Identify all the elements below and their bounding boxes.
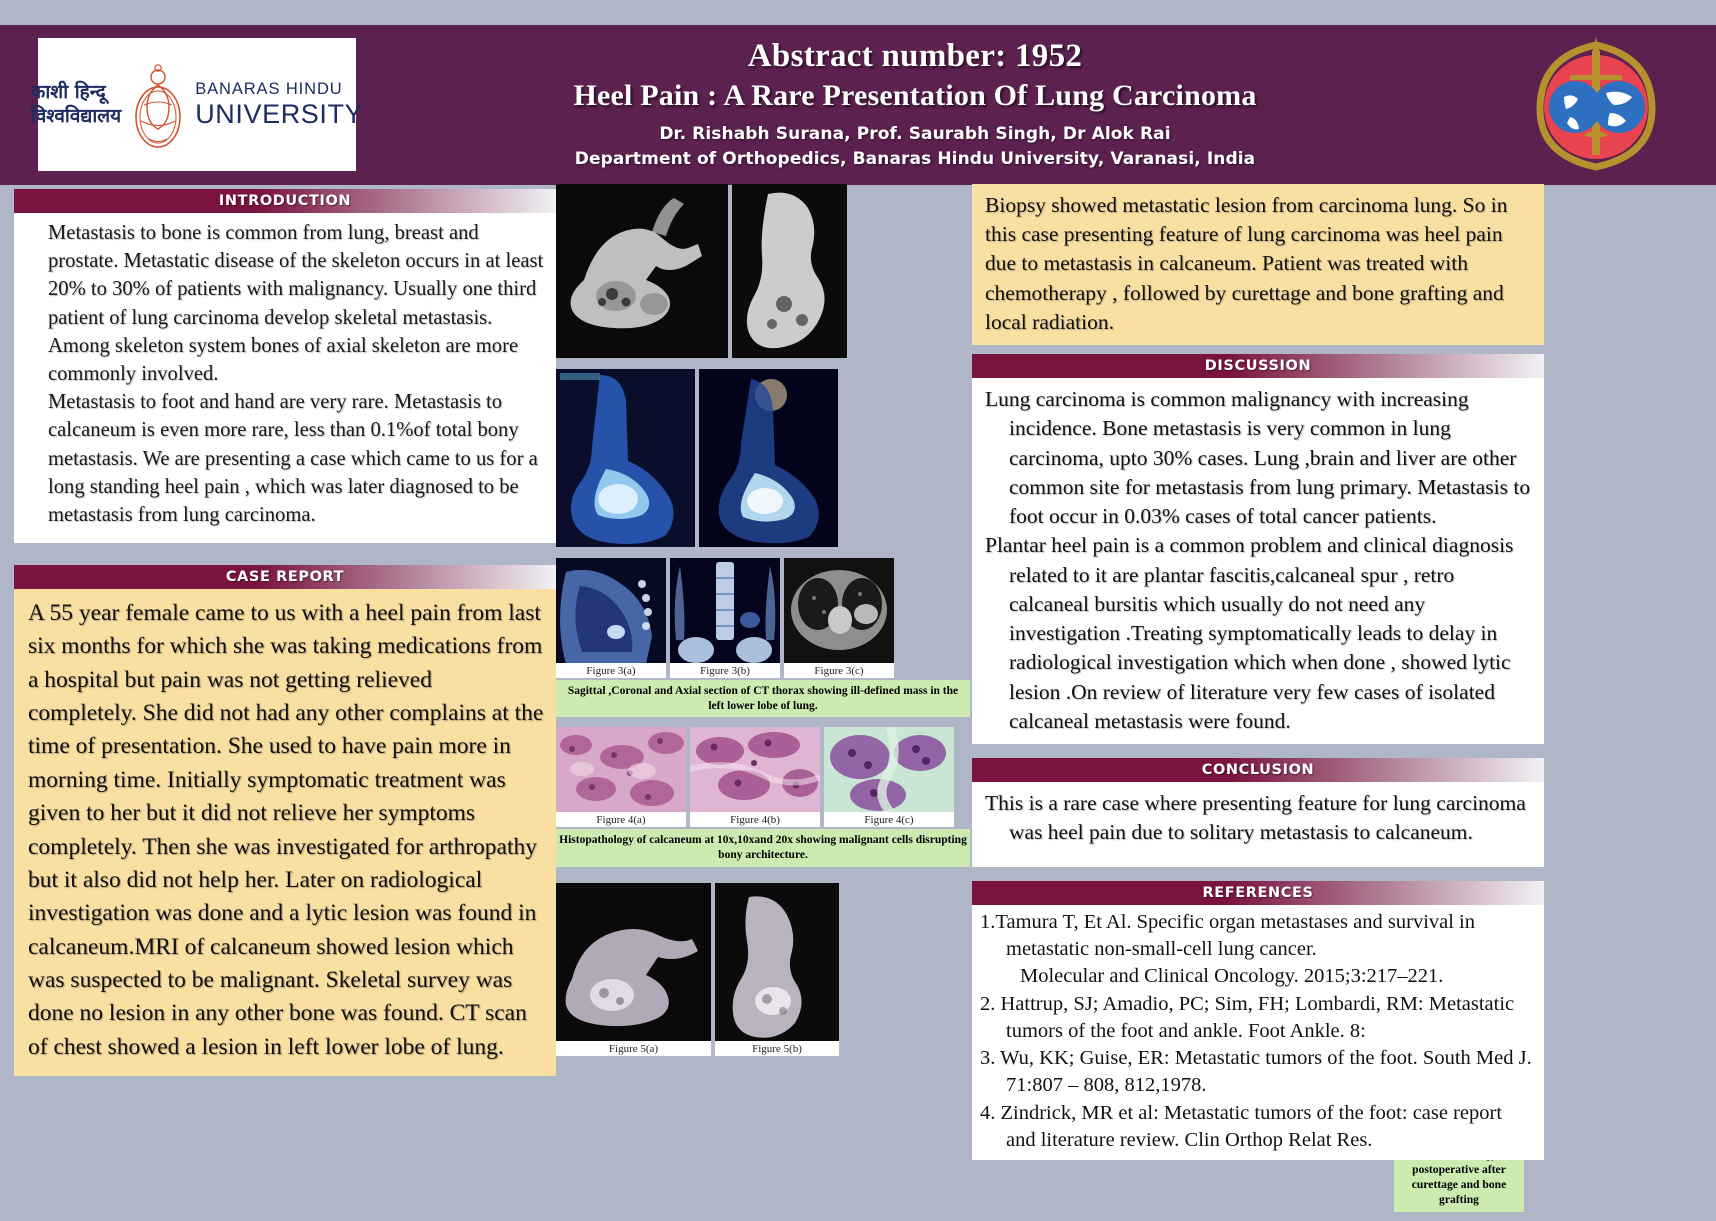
- right-column: Biopsy showed metastatic lesion from car…: [972, 184, 1544, 1160]
- ct-coronal-image: [670, 558, 780, 663]
- biopsy-body: Biopsy showed metastatic lesion from car…: [972, 184, 1544, 345]
- reference-number-3: 3.: [980, 1047, 995, 1069]
- discussion-banner: DISCUSSION: [972, 354, 1544, 378]
- reference-text-4: Zindrick, MR et al: Metastatic tumors of…: [1001, 1102, 1503, 1151]
- histo-figure-label-c: Figure 4(c): [824, 812, 954, 827]
- poster-title: Heel Pain : A Rare Presentation Of Lung …: [573, 79, 1256, 113]
- xray-lateral-image: [556, 184, 728, 358]
- case-report-body: A 55 year female came to us with a heel …: [14, 589, 556, 1076]
- bhu-saraswati-emblem-icon: [127, 59, 189, 151]
- histo-cell-b: Figure 4(b): [690, 727, 820, 827]
- reference-text-3: Wu, KK; Guise, ER: Metastatic tumors of …: [1000, 1047, 1532, 1096]
- introduction-paragraph-1: Metastasis to bone is common from lung, …: [26, 219, 546, 388]
- mri-figure-row: [556, 369, 970, 547]
- postop-harris-image: [715, 883, 839, 1041]
- introduction-banner: INTRODUCTION: [14, 189, 556, 213]
- ct-coronal-cell: Figure 3(b): [670, 558, 780, 678]
- references-panel: 1.Tamura T, Et Al. Specific organ metast…: [972, 905, 1544, 1160]
- abstract-number: Abstract number: 1952: [748, 38, 1082, 75]
- biopsy-panel: Biopsy showed metastatic lesion from car…: [972, 184, 1544, 345]
- conference-poster: काशी हिन्दू विश्वविद्यालय BANARAS HINDU …: [0, 0, 1716, 1221]
- sicot-emblem-icon: [1522, 31, 1670, 179]
- conclusion-banner: CONCLUSION: [972, 758, 1544, 782]
- discussion-paragraph-2: Plantar heel pain is a common problem an…: [985, 531, 1533, 736]
- histo-figure-label-b: Figure 4(b): [690, 812, 820, 827]
- postop-row: Figure 5(a) Figure 5(b): [556, 883, 970, 1056]
- bhu-logo-line1: BANARAS HINDU: [195, 80, 363, 100]
- references-list: 1.Tamura T, Et Al. Specific organ metast…: [972, 905, 1544, 1160]
- mri-t2-sagittal-image: [699, 369, 838, 547]
- ct-sagittal-image: [556, 558, 666, 663]
- reference-item-1: 1.Tamura T, Et Al. Specific organ metast…: [980, 909, 1534, 964]
- bhu-logo-hindi: काशी हिन्दू विश्वविद्यालय: [31, 81, 121, 129]
- postop-cell-a: Figure 5(a): [556, 883, 711, 1056]
- ct-figure-label-b: Figure 3(b): [670, 663, 780, 678]
- reference-text-1: Tamura T, Et Al. Specific organ metastas…: [995, 911, 1475, 960]
- postop-lateral-image: [556, 883, 711, 1041]
- ct-thorax-caption: Sagittal ,Coronal and Axial section of C…: [556, 680, 970, 717]
- left-column: INTRODUCTION Metastasis to bone is commo…: [14, 189, 556, 1076]
- discussion-paragraph-1: Lung carcinoma is common malignancy with…: [985, 385, 1533, 531]
- introduction-paragraph-2: Metastasis to foot and hand are very rar…: [26, 388, 546, 529]
- mri-t1-sagittal-image: [556, 369, 695, 547]
- reference-text-2: Hattrup, SJ; Amadio, PC; Sim, FH; Lombar…: [1001, 993, 1515, 1042]
- histo-cell-a: Figure 4(a): [556, 727, 686, 827]
- reference-item-4: 4. Zindrick, MR et al: Metastatic tumors…: [980, 1100, 1534, 1155]
- department-affiliation: Department of Orthopedics, Banaras Hindu…: [575, 147, 1256, 173]
- ct-thorax-row: Figure 3(a): [556, 558, 970, 678]
- conclusion-text: This is a rare case where presenting fea…: [985, 789, 1533, 847]
- reference-item-3: 3. Wu, KK; Guise, ER: Metastatic tumors …: [980, 1045, 1534, 1100]
- bhu-logo: काशी हिन्दू विश्वविद्यालय BANARAS HINDU …: [38, 38, 356, 171]
- conclusion-body: This is a rare case where presenting fea…: [972, 782, 1544, 867]
- discussion-body: Lung carcinoma is common malignancy with…: [972, 378, 1544, 744]
- bhu-logo-line2: UNIVERSITY: [195, 100, 363, 128]
- reference-number-4: 4.: [980, 1102, 995, 1124]
- reference-subline-1: Molecular and Clinical Oncology. 2015;3:…: [980, 963, 1534, 990]
- histo-cell-c: Figure 4(c): [824, 727, 954, 827]
- header-title-block: Abstract number: 1952 Heel Pain : A Rare…: [380, 25, 1450, 185]
- histo-image-b: [690, 727, 820, 812]
- ct-axial-image: [784, 558, 894, 663]
- postop-cell-b: Figure 5(b): [715, 883, 839, 1056]
- bhu-hindi-line1: काशी हिन्दू: [31, 81, 121, 105]
- poster-header: काशी हिन्दू विश्वविद्यालय BANARAS HINDU …: [0, 25, 1716, 185]
- case-report-panel: A 55 year female came to us with a heel …: [14, 589, 556, 1076]
- reference-item-2: 2. Hattrup, SJ; Amadio, PC; Sim, FH; Lom…: [980, 991, 1534, 1046]
- histo-figure-label-a: Figure 4(a): [556, 812, 686, 827]
- reference-number-2: 2.: [980, 993, 995, 1015]
- histo-image-c: [824, 727, 954, 812]
- author-list: Dr. Rishabh Surana, Prof. Saurabh Singh,…: [659, 122, 1170, 148]
- ct-figure-label-a: Figure 3(a): [556, 663, 666, 678]
- bhu-logo-text: BANARAS HINDU UNIVERSITY: [195, 80, 363, 128]
- ct-axial-cell: Figure 3(c): [784, 558, 894, 678]
- introduction-body: Metastasis to bone is common from lung, …: [14, 213, 556, 543]
- bhu-hindi-line2: विश्वविद्यालय: [31, 105, 121, 129]
- postop-figure-label-b: Figure 5(b): [715, 1041, 839, 1056]
- ct-sagittal-cell: Figure 3(a): [556, 558, 666, 678]
- references-banner: REFERENCES: [972, 881, 1544, 905]
- discussion-panel: Lung carcinoma is common malignancy with…: [972, 378, 1544, 744]
- case-report-banner: CASE REPORT: [14, 565, 556, 589]
- xray-figure-row: [556, 184, 970, 358]
- introduction-panel: Metastasis to bone is common from lung, …: [14, 213, 556, 543]
- conclusion-panel: This is a rare case where presenting fea…: [972, 782, 1544, 867]
- reference-number-1: 1.: [980, 911, 995, 933]
- xray-harris-view-image: [732, 184, 847, 358]
- histopathology-caption: Histopathology of calcaneum at 10x,10xan…: [556, 829, 970, 866]
- histo-image-a: [556, 727, 686, 812]
- postop-figure-label-a: Figure 5(a): [556, 1041, 711, 1056]
- middle-figure-column: Plain radiograph Lateral view and Harris…: [556, 184, 970, 1056]
- ct-figure-label-c: Figure 3(c): [784, 663, 894, 678]
- histopathology-row: Figure 4(a): [556, 727, 970, 827]
